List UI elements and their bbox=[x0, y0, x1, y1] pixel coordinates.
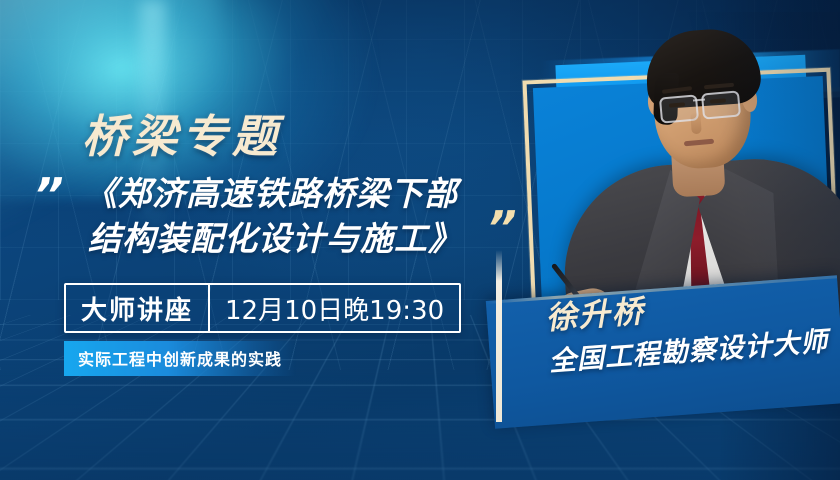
lecture-subtitle-line-2: 结构装配化设计与施工》 bbox=[84, 217, 504, 262]
portrait-glasses-right-lens bbox=[701, 90, 741, 119]
lecture-tagline: 实际工程中创新成果的实践 bbox=[64, 341, 296, 376]
portrait-section bbox=[498, 0, 840, 480]
lecture-datetime: 12月10日晚19:30 bbox=[210, 285, 459, 331]
portrait-nose bbox=[690, 112, 702, 135]
quote-close-icon: ” bbox=[487, 205, 515, 251]
lecture-poster: 徐升桥 全国工程勘察设计大师 桥梁专题 ” 《郑济高速铁路桥梁下部 结构装配化设… bbox=[0, 0, 840, 480]
lecture-info-box: 大师讲座 12月10日晚19:30 bbox=[64, 283, 461, 333]
lecture-subtitle: 《郑济高速铁路桥梁下部 结构装配化设计与施工》 bbox=[84, 172, 504, 262]
lecture-type-badge: 大师讲座 bbox=[66, 285, 210, 331]
text-section: 桥梁专题 ” 《郑济高速铁路桥梁下部 结构装配化设计与施工》 ” 大师讲座 12… bbox=[0, 0, 530, 480]
quote-open-icon: ” bbox=[34, 172, 62, 218]
page-title: 桥梁专题 bbox=[82, 100, 282, 165]
lecture-subtitle-line-1: 《郑济高速铁路桥梁下部 bbox=[84, 172, 504, 217]
